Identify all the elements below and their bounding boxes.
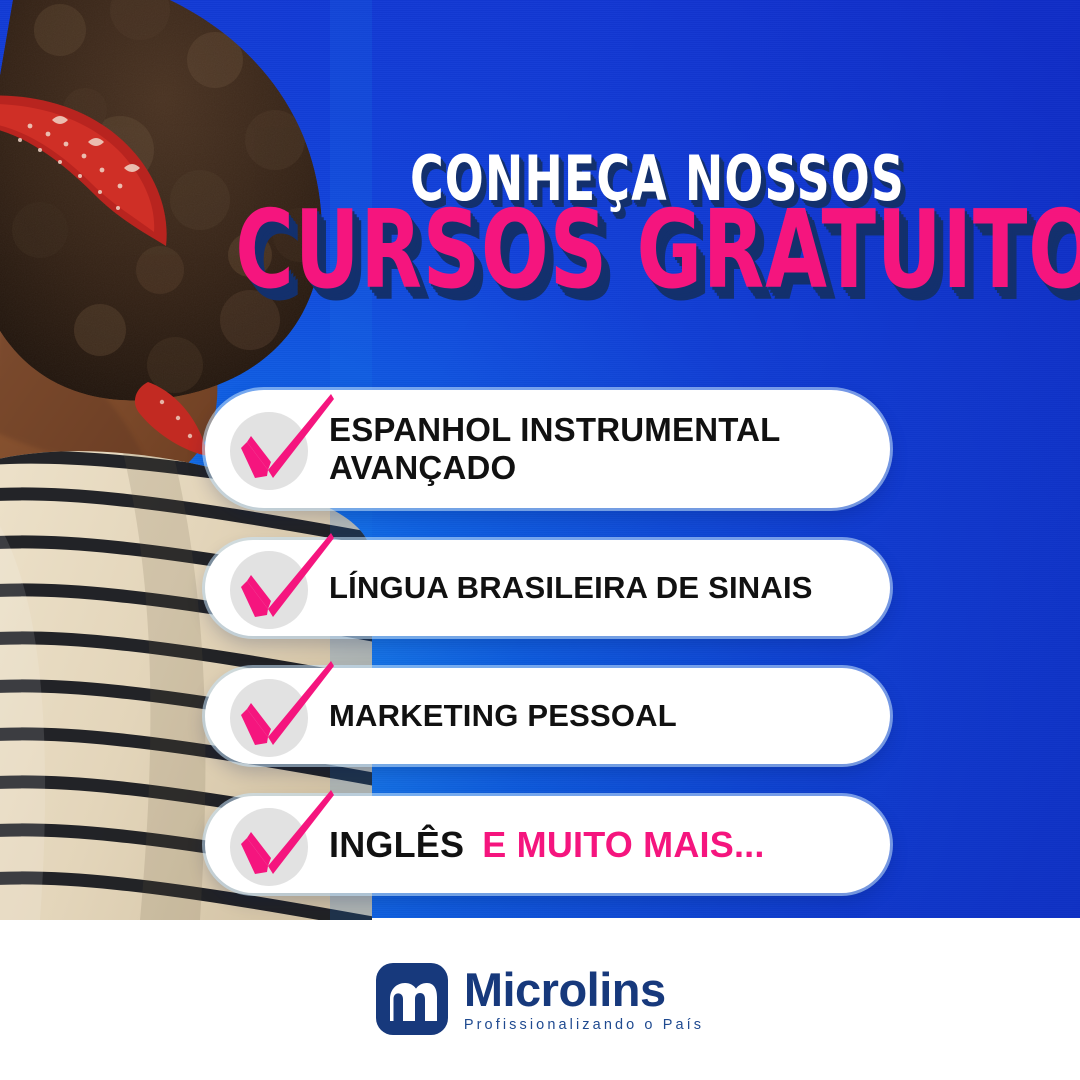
check-icon [227,802,313,888]
course-label-extra: E MUITO MAIS... [482,824,764,865]
brand-name: Microlins [464,966,704,1013]
course-item-libras[interactable]: LÍNGUA BRASILEIRA DE SINAIS [205,540,890,636]
check-icon [227,406,313,492]
brand-tagline: Profissionalizando o País [464,1017,704,1033]
check-icon [227,673,313,759]
microlins-m-icon [376,963,448,1035]
course-item-ingles[interactable]: INGLÊSE MUITO MAIS... [205,796,890,893]
promo-canvas: CONHEÇA NOSSOS CURSOS GRATUITOS: ESPANHO… [0,0,1080,1080]
check-icon [227,545,313,631]
course-label: MARKETING PESSOAL [329,698,677,734]
course-item-espanhol[interactable]: ESPANHOL INSTRUMENTAL AVANÇADO [205,390,890,508]
course-list: ESPANHOL INSTRUMENTAL AVANÇADO LÍNGUA BR… [205,390,905,893]
course-label: INGLÊS [329,824,464,865]
course-item-marketing[interactable]: MARKETING PESSOAL [205,668,890,764]
course-label: ESPANHOL INSTRUMENTAL AVANÇADO [329,411,799,488]
footer: Microlins Profissionalizando o País [0,918,1080,1080]
brand-text: Microlins Profissionalizando o País [464,966,704,1033]
course-label: LÍNGUA BRASILEIRA DE SINAIS [329,570,813,606]
brand-logo[interactable]: Microlins Profissionalizando o País [376,963,704,1035]
